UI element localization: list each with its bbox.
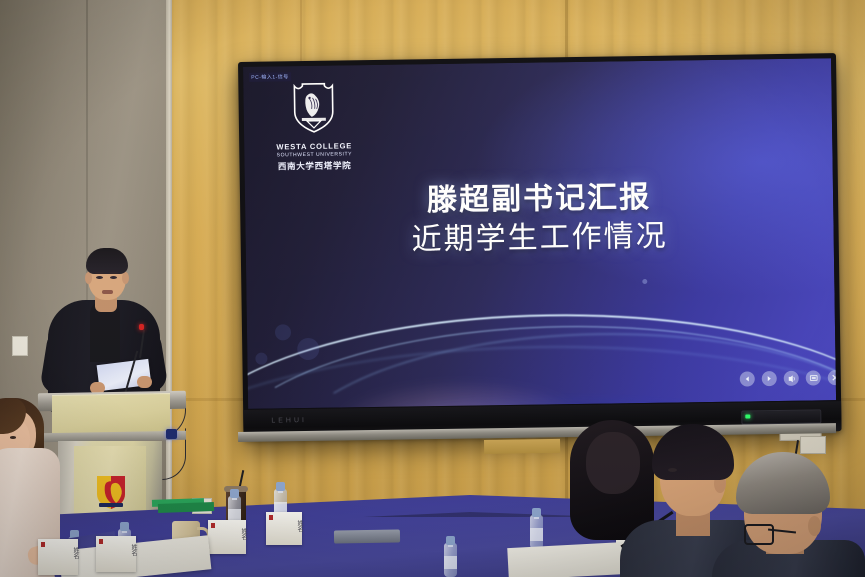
speaker-hair bbox=[86, 248, 128, 274]
logo-english-subtitle: SOUTHWEST UNIVERSITY bbox=[268, 151, 360, 158]
slide-bokeh-dot bbox=[642, 279, 647, 284]
name-tent-text: 姓名 bbox=[38, 547, 78, 559]
logo-english-name: WESTA COLLEGE bbox=[268, 141, 360, 151]
eyeglasses bbox=[744, 524, 774, 545]
slide-logo: WESTA COLLEGE SOUTHWEST UNIVERSITY 西南大学西… bbox=[267, 81, 360, 172]
podium-control-button[interactable] bbox=[166, 429, 177, 439]
mount-rail-gap bbox=[484, 439, 560, 454]
wall-outlet bbox=[12, 336, 28, 356]
name-tent-card: 姓名 bbox=[38, 539, 78, 575]
speaker-ear bbox=[85, 272, 92, 284]
logo-chinese-name: 西南大学西塔学院 bbox=[268, 159, 360, 172]
wall-plate bbox=[800, 436, 826, 454]
speaker-eye bbox=[110, 276, 117, 279]
end-show-button[interactable] bbox=[828, 370, 836, 385]
name-tent-card: 姓名 bbox=[266, 512, 302, 545]
name-tent-card: 姓名 bbox=[96, 536, 136, 572]
microphone-indicator-light bbox=[139, 324, 144, 330]
name-tent-text: 姓名 bbox=[266, 520, 302, 532]
display-screen[interactable]: PC-输入1-信号 WESTA COLLEGE SOUTHWEST UNIVER… bbox=[243, 58, 836, 409]
meeting-room-photo: PC-输入1-信号 WESTA COLLEGE SOUTHWEST UNIVER… bbox=[0, 0, 865, 577]
wall-display[interactable]: PC-输入1-信号 WESTA COLLEGE SOUTHWEST UNIVER… bbox=[238, 53, 842, 440]
attendee-grey-hair-man-ear bbox=[808, 516, 821, 536]
next-slide-button[interactable] bbox=[762, 371, 777, 386]
name-tent-text: 姓名 bbox=[96, 544, 136, 556]
speaker-hand bbox=[137, 376, 152, 388]
input-signal-tag: PC-输入1-信号 bbox=[249, 72, 291, 82]
speaker-ear bbox=[122, 272, 129, 284]
pen-tool-button[interactable] bbox=[784, 371, 799, 386]
attendee-long-hair-head bbox=[586, 432, 640, 494]
presentation-controls[interactable] bbox=[740, 370, 836, 387]
speaker-eyebrow bbox=[95, 272, 104, 274]
media-slot[interactable] bbox=[741, 409, 821, 424]
podium-crest-icon bbox=[96, 474, 126, 510]
previous-slide-button[interactable] bbox=[740, 371, 755, 386]
westa-college-crest-icon bbox=[292, 82, 335, 135]
speaker-mouth bbox=[102, 290, 113, 294]
speaker-eye bbox=[96, 276, 103, 279]
name-tent-text: 姓名 bbox=[208, 528, 246, 540]
tablet-device[interactable] bbox=[334, 529, 400, 543]
printed-document bbox=[507, 542, 629, 577]
name-tent-card: 姓名 bbox=[208, 520, 246, 554]
slide-title: 滕超副书记汇报 近期学生工作情况 bbox=[245, 176, 834, 262]
attendee-woman-left-eye bbox=[10, 436, 16, 439]
slide-menu-button[interactable] bbox=[806, 370, 821, 385]
display-brand-label: LEHUI bbox=[271, 417, 307, 425]
attendee-young-man-eye bbox=[668, 468, 677, 472]
speaker-eyebrow bbox=[109, 272, 118, 274]
power-led-indicator bbox=[745, 414, 750, 418]
slide-pink-haze bbox=[307, 348, 609, 409]
